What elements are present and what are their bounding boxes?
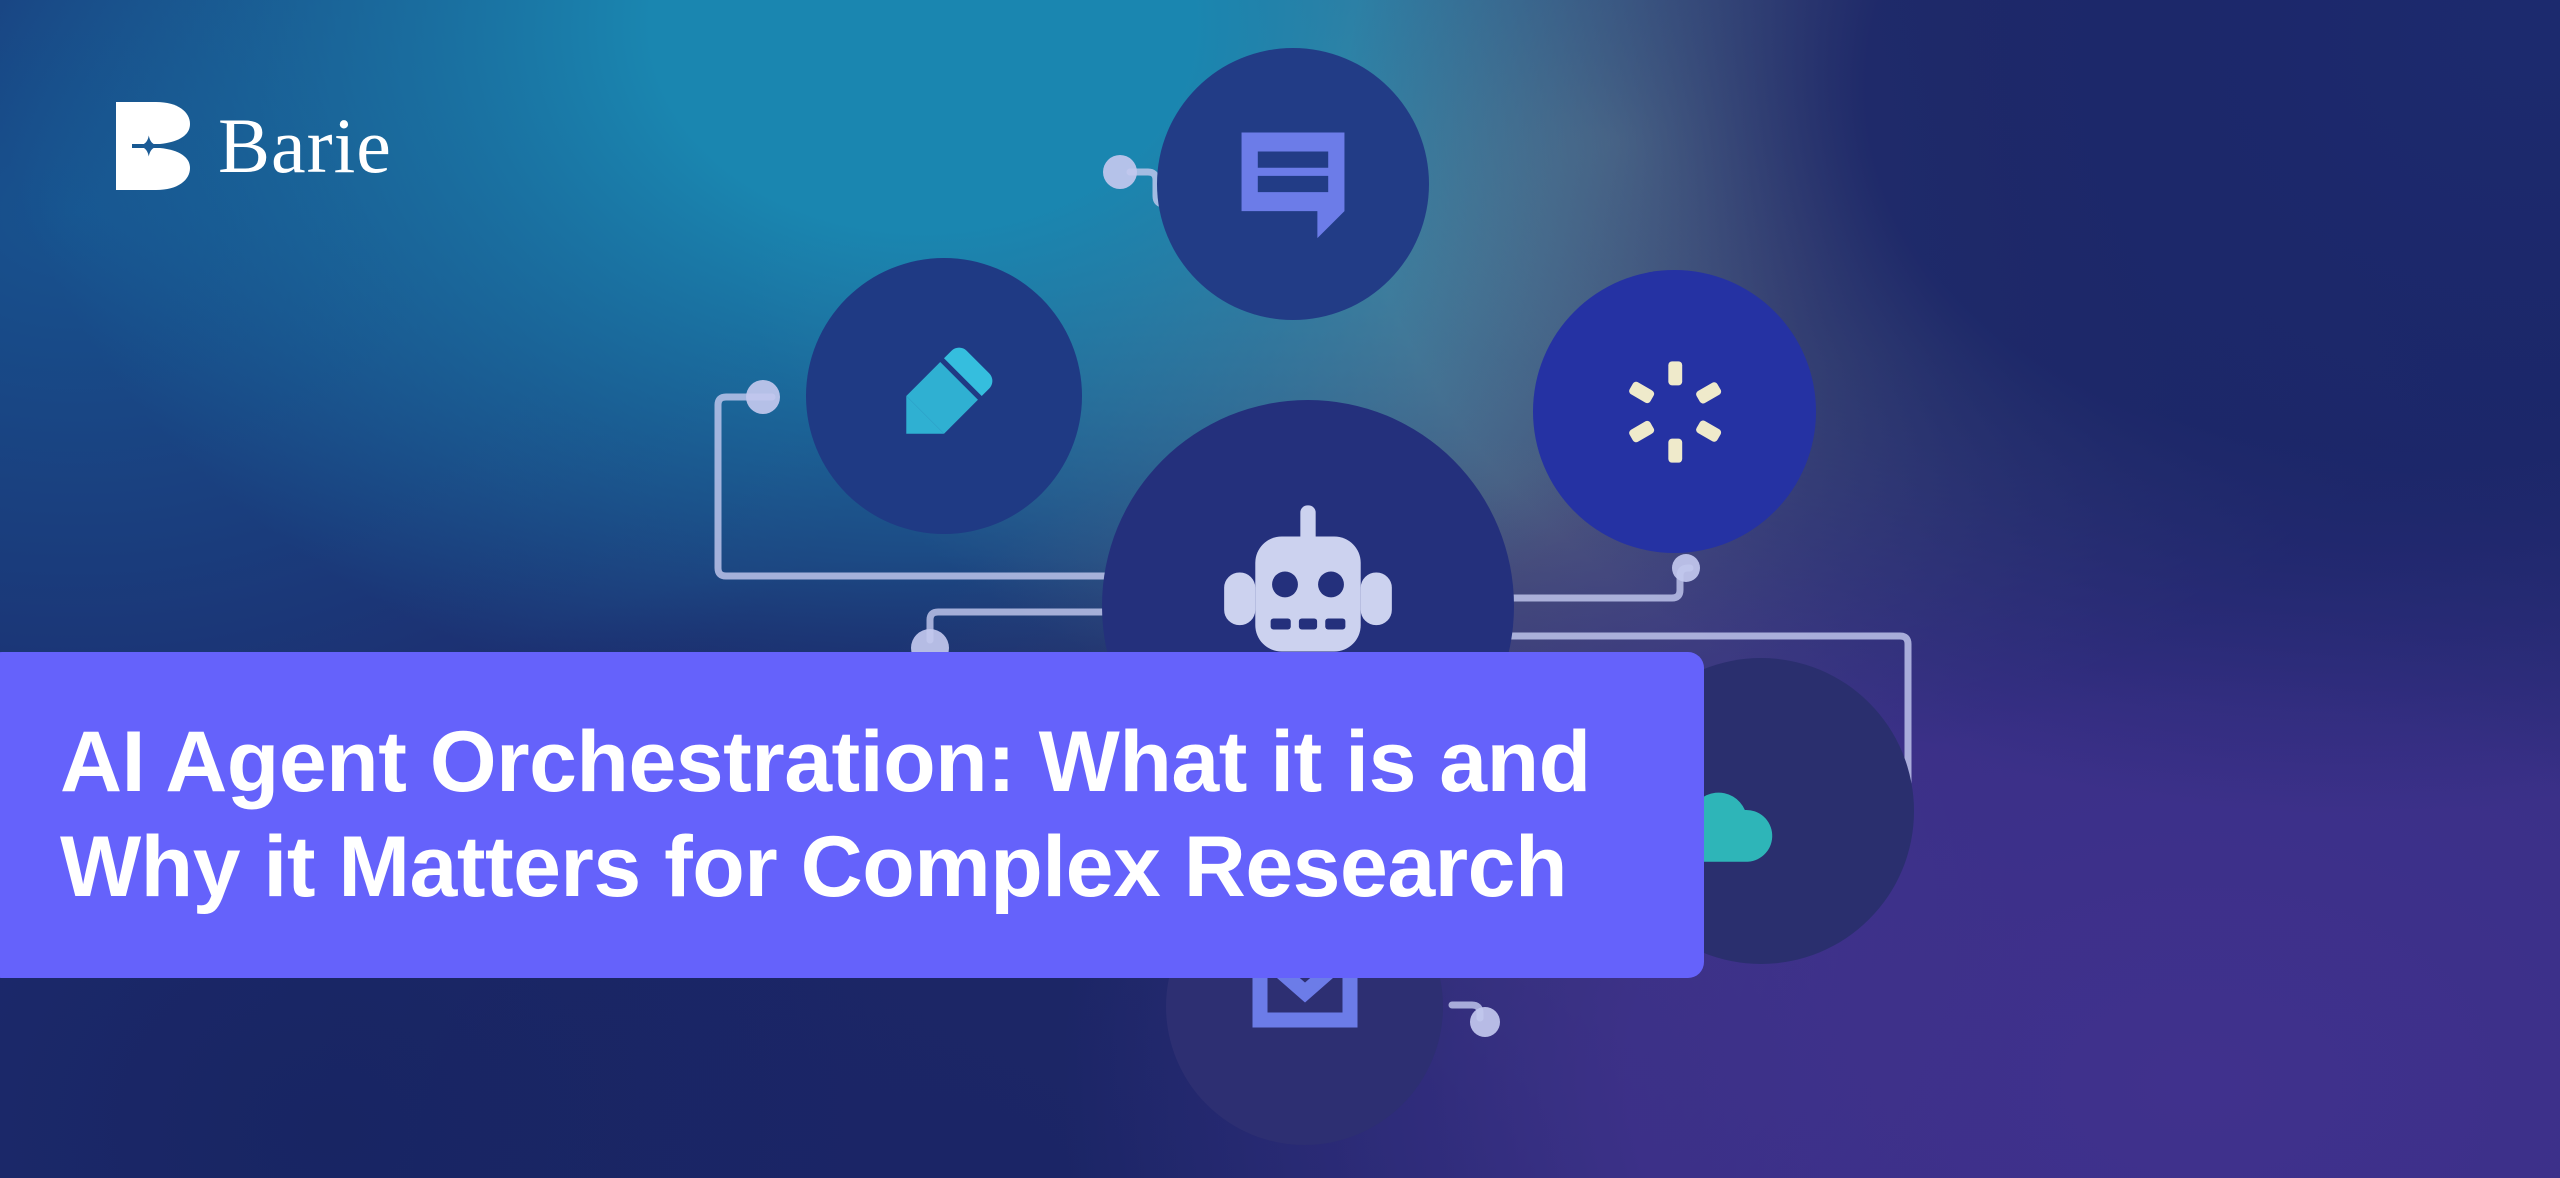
article-title-banner: AI Agent Orchestration: What it is and W… (0, 652, 1704, 978)
brand-logo[interactable]: Barie (112, 98, 392, 194)
page-title-line-1: AI Agent Orchestration: What it is and (60, 710, 1704, 815)
blog-hero-banner: Barie AI Agent Orchestration: What it is… (0, 0, 2560, 1178)
brand-name: Barie (218, 107, 392, 185)
barie-b-sparkle-logo-icon (112, 98, 192, 194)
page-title-line-2: Why it Matters for Complex Research (60, 815, 1704, 920)
